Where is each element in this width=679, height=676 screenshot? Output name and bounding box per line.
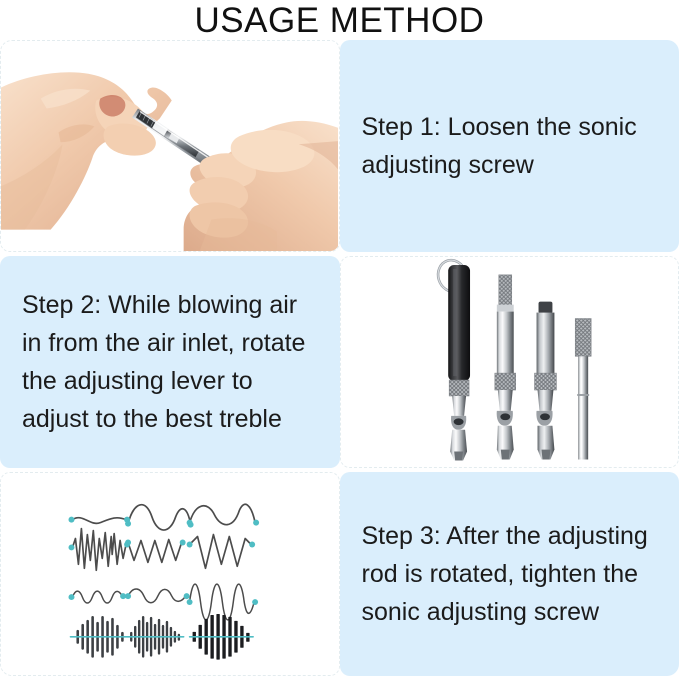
usage-method-infographic: USAGE METHOD: [0, 0, 679, 676]
step-1-text-panel: Step 1: Loosen the sonic adjusting screw: [340, 40, 679, 252]
whistle-variants-illustration: [341, 257, 678, 467]
step-1-row: Step 1: Loosen the sonic adjusting screw: [0, 40, 679, 252]
sound-waveforms-illustration: [1, 473, 339, 676]
silver-whistle-short-rod: [534, 302, 556, 460]
step-2-text: Step 2: While blowing air in from the ai…: [22, 286, 316, 438]
step-2-text-panel: Step 2: While blowing air in from the ai…: [0, 256, 340, 468]
page-title-bar: USAGE METHOD: [0, 0, 679, 40]
step-3-text: Step 3: After the adjusting rod is rotat…: [362, 517, 656, 631]
page-title: USAGE METHOD: [195, 3, 485, 38]
step-3-row: Step 3: After the adjusting rod is rotat…: [0, 472, 679, 676]
step-2-row: Step 2: While blowing air in from the ai…: [0, 256, 679, 468]
hands-loosening-whistle-illustration: [1, 41, 338, 251]
sound-waveforms-graphic: [0, 472, 340, 676]
step-1-text: Step 1: Loosen the sonic adjusting screw: [362, 108, 656, 184]
step-3-text-panel: Step 3: After the adjusting rod is rotat…: [340, 472, 679, 676]
hands-loosening-whistle-photo: [0, 40, 340, 252]
whistle-variants-photo: [340, 256, 679, 468]
